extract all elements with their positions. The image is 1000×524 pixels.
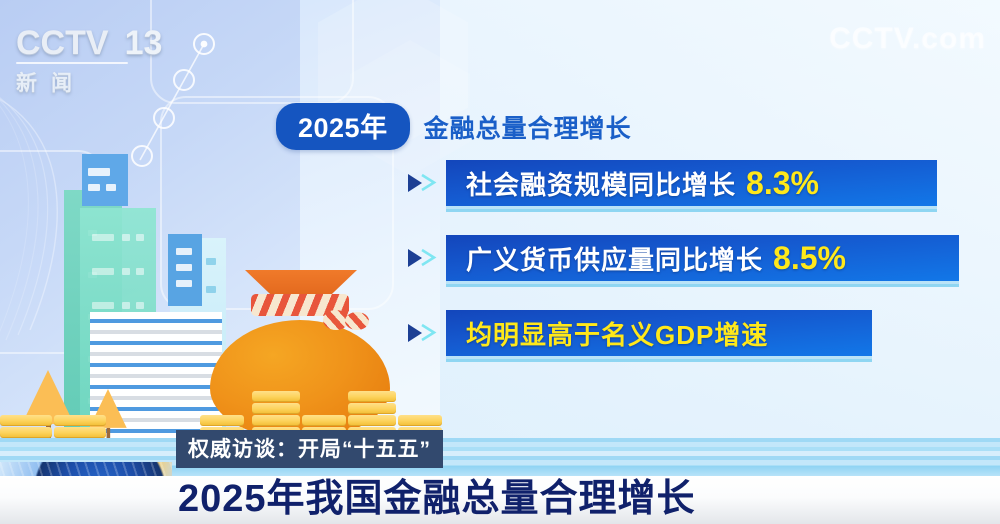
- building-icon: [82, 154, 128, 206]
- headline-text: 2025年我国金融总量合理增长: [178, 467, 696, 522]
- stat-label: 社会融资规模同比增长: [466, 165, 736, 202]
- money-bag-knot-2: [345, 312, 369, 330]
- logo-underline: [16, 62, 128, 64]
- broadcast-screen: CCTV.com CCTV 13 新闻: [0, 0, 1000, 524]
- stat-label: 广义货币供应量同比增长: [466, 240, 763, 277]
- kicker-label: 权威访谈：开局“十五五”: [176, 430, 443, 468]
- stat-bar: 社会融资规模同比增长 8.3%: [446, 160, 937, 206]
- building-icon: [168, 234, 202, 306]
- double-chevron-right-icon: [406, 163, 446, 203]
- year-badge: 2025年: [276, 103, 410, 150]
- stat-row: 广义货币供应量同比增长 8.5%: [406, 235, 959, 281]
- stat-row: 社会融资规模同比增长 8.3%: [406, 160, 937, 206]
- coin-stack: [54, 414, 106, 438]
- stat-bar: 广义货币供应量同比增长 8.5%: [446, 235, 959, 281]
- infographic-title: 金融总量合理增长: [424, 109, 632, 145]
- double-chevron-right-icon: [406, 238, 446, 278]
- stat-label: 均明显高于名义GDP增速: [466, 315, 768, 352]
- infographic-title-row: 2025年 金融总量合理增长: [276, 103, 632, 150]
- cctv-logo-subtitle: 新闻: [16, 67, 148, 97]
- cctv-logo-wordmark: CCTV 13: [16, 24, 148, 60]
- cctv-watermark: CCTV.com: [829, 22, 986, 56]
- stat-value: 8.5%: [773, 240, 846, 277]
- cctv-logo-text: CCTV: [16, 26, 109, 60]
- logo-slash-icon: [110, 24, 117, 54]
- stat-value: 8.3%: [746, 165, 819, 202]
- stat-row: 均明显高于名义GDP增速: [406, 310, 872, 356]
- coin-stack: [0, 414, 52, 438]
- cctv-logo: CCTV 13 新闻: [16, 24, 148, 90]
- cctv-logo-number: 13: [125, 26, 163, 60]
- double-chevron-right-icon: [406, 313, 446, 353]
- stat-bar: 均明显高于名义GDP增速: [446, 310, 872, 356]
